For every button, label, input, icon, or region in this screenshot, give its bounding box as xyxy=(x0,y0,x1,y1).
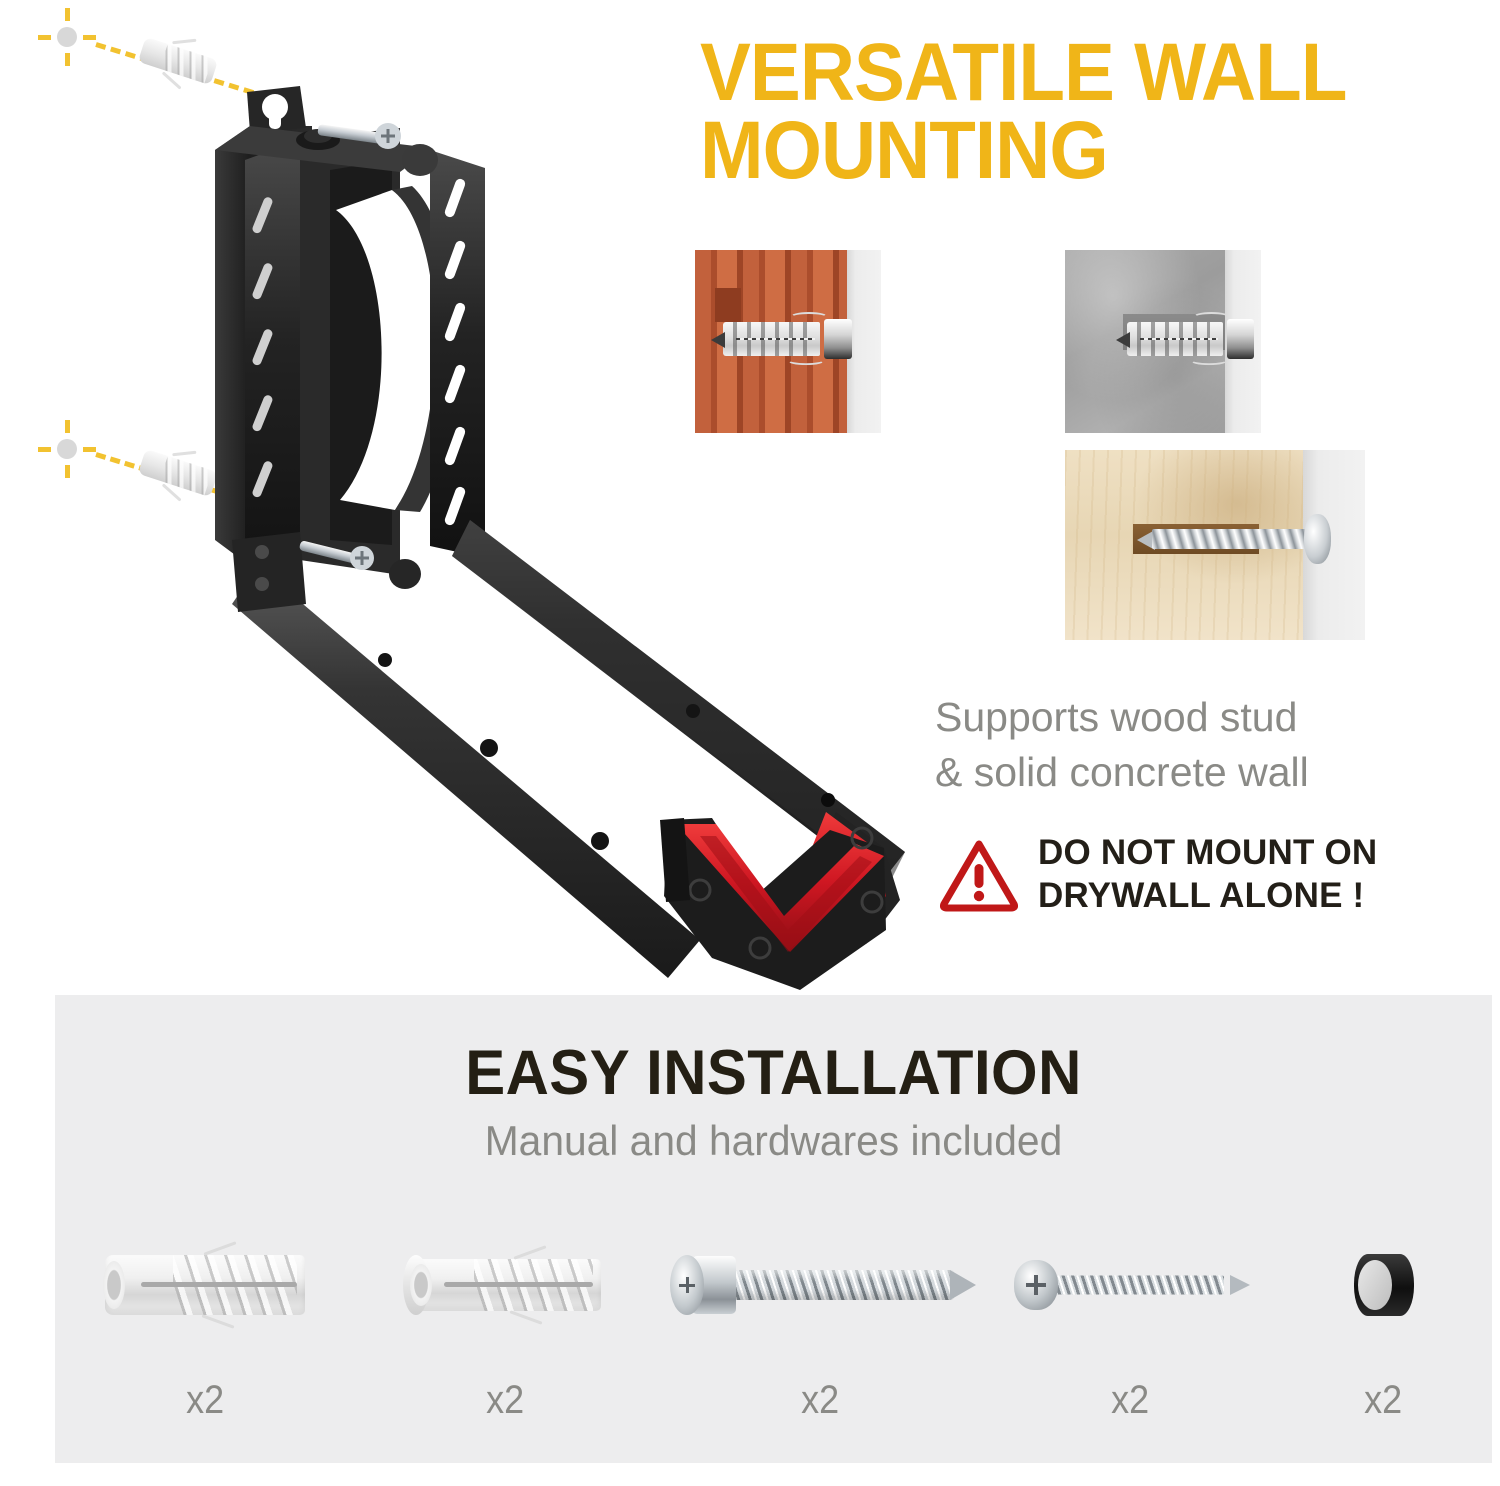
expansion-anchor-icon xyxy=(723,322,851,356)
expansion-anchor-icon xyxy=(1127,322,1253,356)
warning-text: DO NOT MOUNT ON DRYWALL ALONE ! xyxy=(1038,832,1377,917)
hardware-item: x2 xyxy=(1275,1220,1492,1423)
concrete-wall-sample xyxy=(1065,250,1261,433)
hardware-qty: x2 xyxy=(1111,1378,1149,1423)
wall-plug-collared-icon xyxy=(409,1220,601,1350)
supports-line2: & solid concrete wall xyxy=(935,745,1475,800)
hardware-qty: x2 xyxy=(186,1378,224,1423)
hardware-qty: x2 xyxy=(801,1378,839,1423)
pan-head-screw-icon xyxy=(1014,1220,1246,1350)
hardware-qty: x2 xyxy=(1364,1378,1402,1423)
black-end-cap-icon xyxy=(1354,1220,1414,1350)
drywall-warning: DO NOT MOUNT ON DRYWALL ALONE ! xyxy=(940,832,1377,917)
hardware-item: x2 xyxy=(655,1220,985,1423)
lag-screw-hex-head-icon xyxy=(670,1220,970,1350)
warning-line1: DO NOT MOUNT ON xyxy=(1038,832,1377,875)
supports-text: Supports wood stud & solid concrete wall xyxy=(935,690,1475,801)
room-side xyxy=(847,250,881,433)
wood-stud-sample xyxy=(1065,450,1365,640)
panel-title: EASY INSTALLATION xyxy=(91,1037,1456,1109)
easy-installation-panel: EASY INSTALLATION Manual and hardwares i… xyxy=(55,995,1492,1463)
infographic-page: VERSATILE WALL MOUNTING xyxy=(0,0,1500,1486)
hardware-item: x2 xyxy=(55,1220,355,1423)
hardware-qty: x2 xyxy=(486,1378,524,1423)
hardware-item: x2 xyxy=(355,1220,655,1423)
brick-gap xyxy=(715,288,741,322)
panel-subtitle: Manual and hardwares included xyxy=(77,1117,1471,1165)
hardware-item: x2 xyxy=(985,1220,1275,1423)
hardware-list: x2 x2 xyxy=(55,1220,1492,1423)
supports-line1: Supports wood stud xyxy=(935,690,1475,745)
brick-wall-sample xyxy=(695,250,881,433)
warning-triangle-icon xyxy=(940,838,1018,912)
page-title-line2: MOUNTING xyxy=(700,112,1435,190)
warning-line2: DRYWALL ALONE ! xyxy=(1038,875,1377,918)
wood-screw-icon xyxy=(1137,522,1327,556)
wall-plug-large-icon xyxy=(105,1220,305,1350)
page-title: VERSATILE WALL MOUNTING xyxy=(700,34,1435,190)
